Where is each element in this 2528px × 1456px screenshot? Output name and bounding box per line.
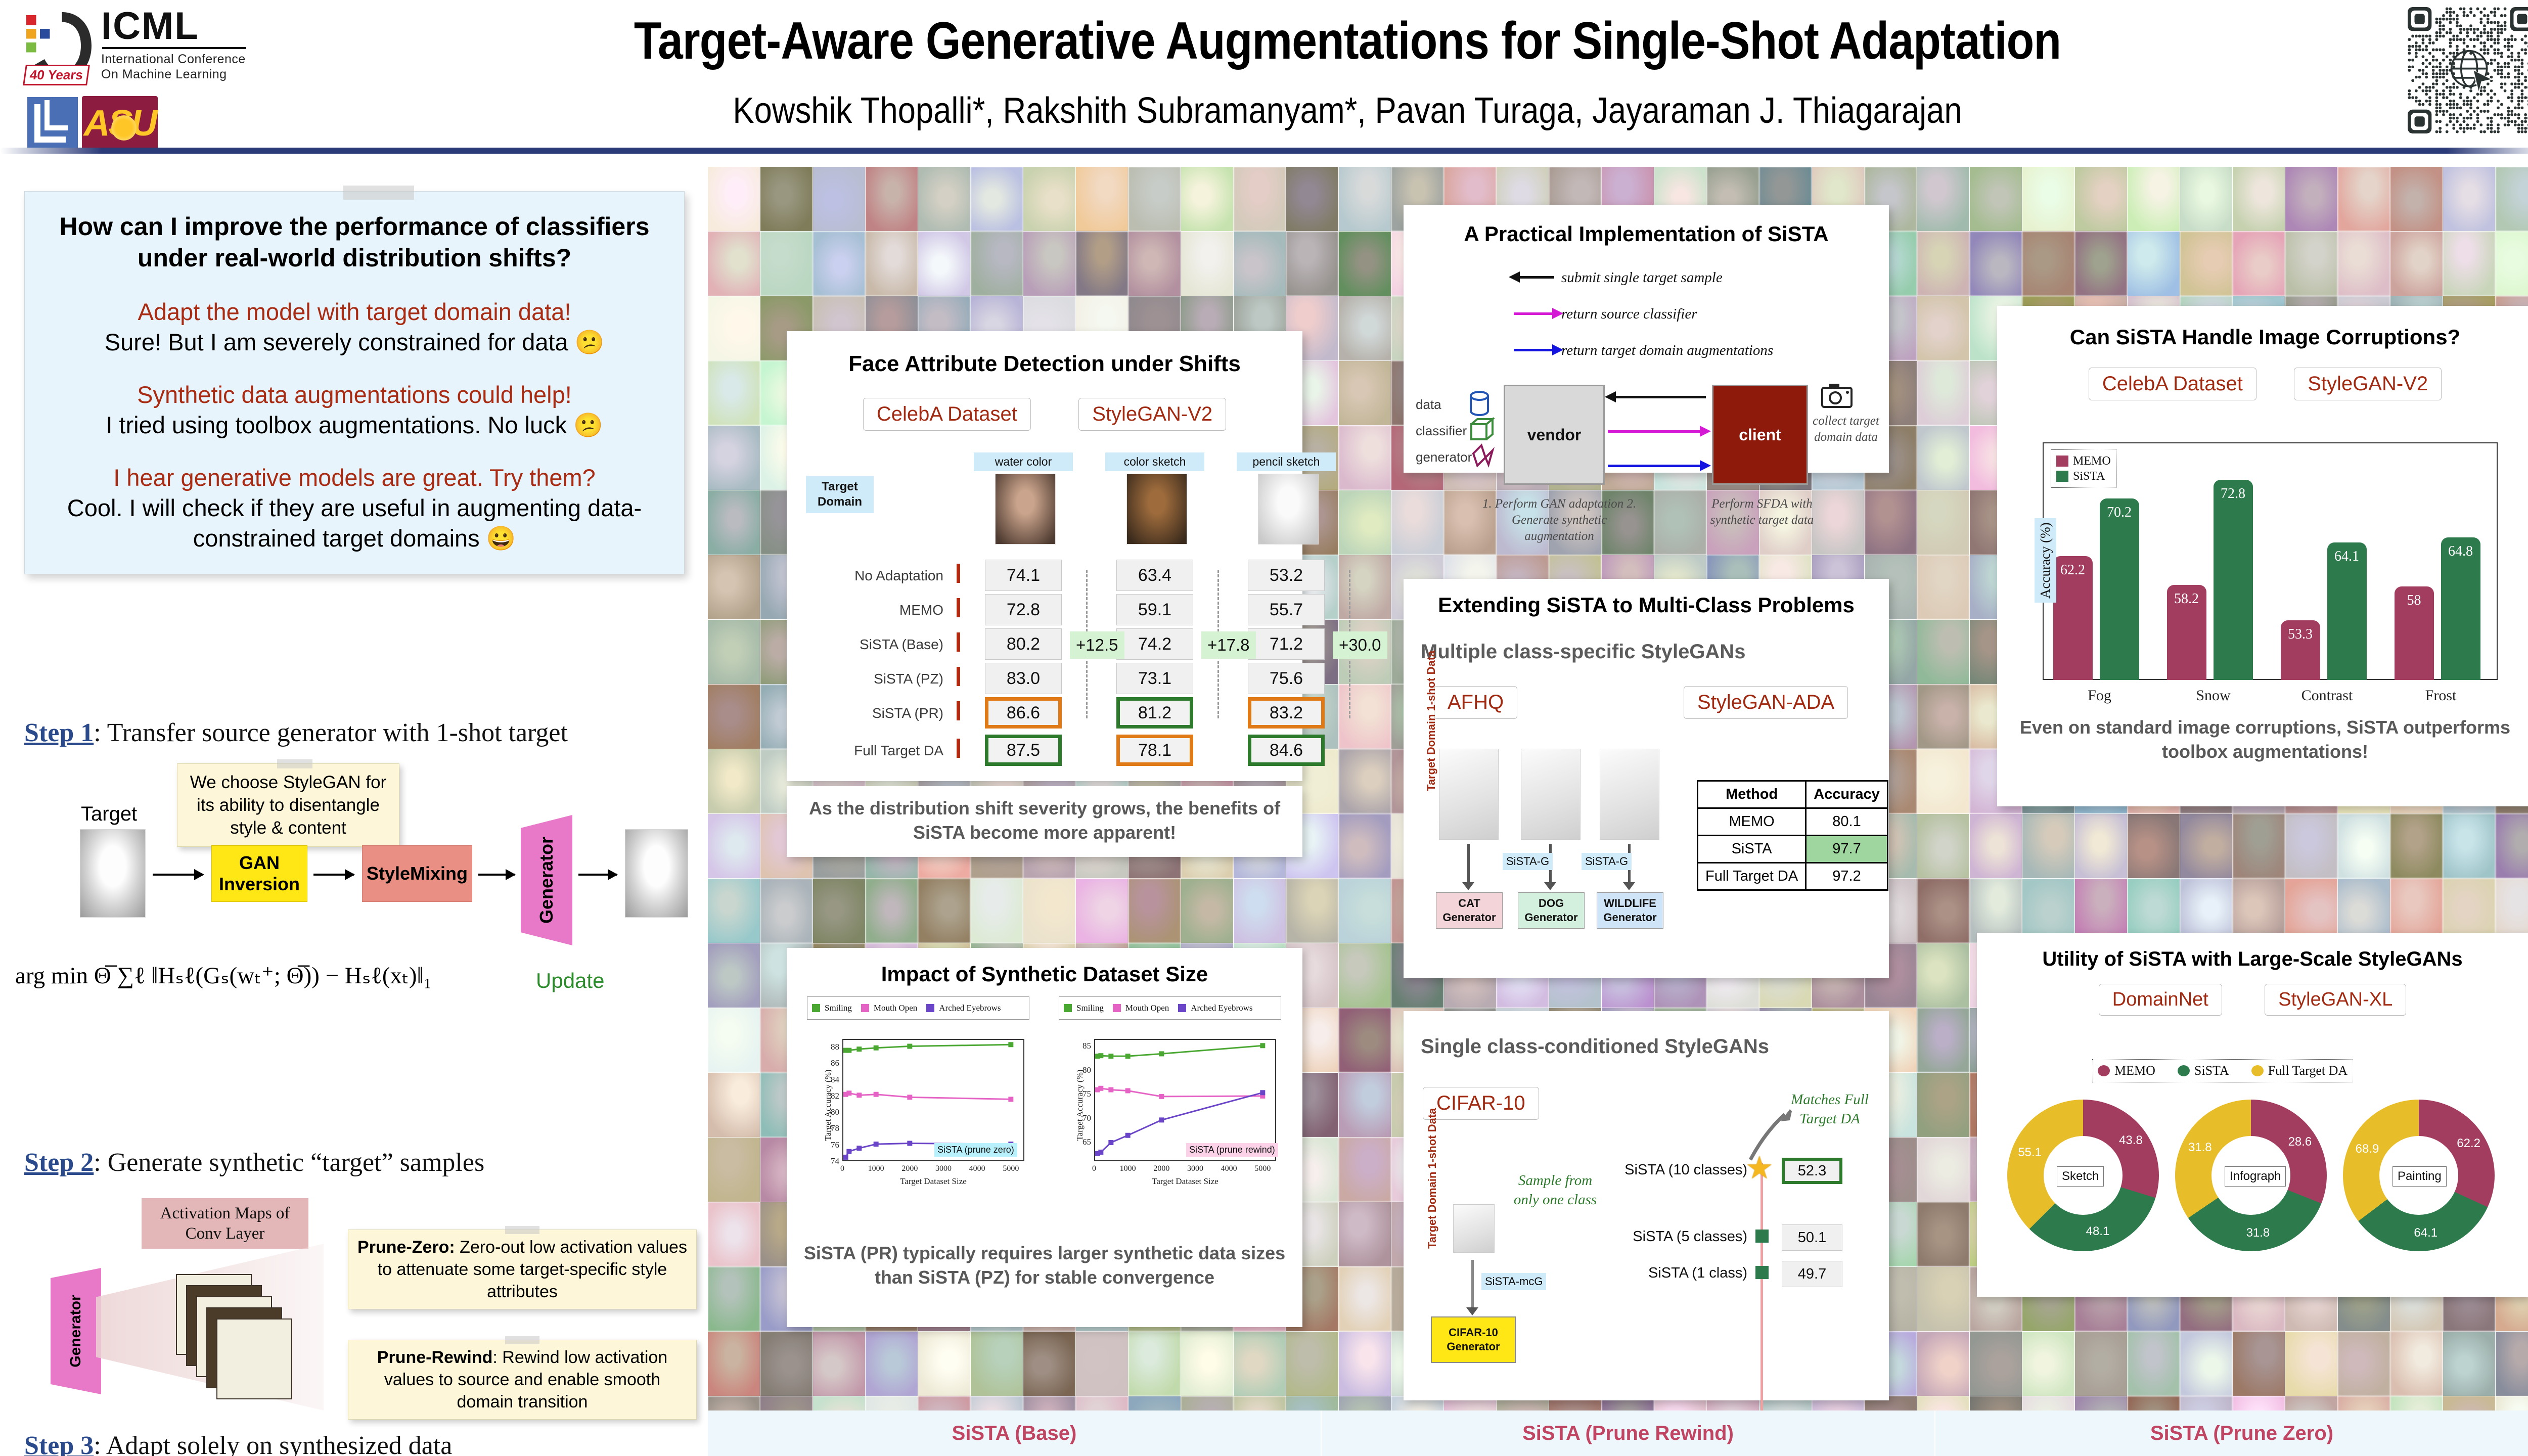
donut-value-infograph-1: 31.8 bbox=[2246, 1226, 2270, 1240]
qr-code[interactable] bbox=[2408, 7, 2528, 133]
generator-chip-2: WILDLIFEGenerator bbox=[1597, 892, 1663, 929]
donut-center-label-0: Sketch bbox=[2057, 1166, 2104, 1187]
mosaic-tile bbox=[1917, 1396, 1969, 1410]
impl-panel-title: A Practical Implementation of SiSTA bbox=[1404, 222, 1889, 246]
mosaic-tile bbox=[2128, 167, 2180, 231]
mosaic-tile bbox=[2285, 232, 2337, 296]
y-axis-label-0: Target Accuracy (%) bbox=[823, 1055, 833, 1156]
target-domain-chip: Target Domain bbox=[806, 476, 874, 513]
row-label-3: SiSTA (PZ) bbox=[792, 671, 943, 687]
step1-label: Step 1 bbox=[24, 718, 94, 747]
mosaic-tile bbox=[760, 1396, 812, 1410]
mosaic-tile bbox=[2128, 1332, 2180, 1396]
mosaic-tile bbox=[1917, 1202, 1969, 1266]
x-axis-label-0: Target Dataset Size bbox=[842, 1176, 1024, 1187]
mosaic-tile bbox=[760, 232, 812, 296]
value-cell-r5-c0: 87.5 bbox=[985, 735, 1062, 766]
mosaic-tile bbox=[1339, 490, 1391, 555]
step3-heading: Step 3: Adapt solely on synthesized data bbox=[24, 1431, 452, 1456]
x-tick-frost: Frost bbox=[2384, 687, 2498, 704]
row-marker-2 bbox=[957, 632, 960, 652]
dialog-line-2: Sure! But I am severely constrained for … bbox=[40, 327, 669, 357]
database-icon bbox=[1468, 391, 1491, 419]
mosaic-tile bbox=[971, 879, 1023, 943]
mosaic-tile bbox=[2233, 1332, 2285, 1396]
mosaic-tile bbox=[971, 232, 1023, 296]
mosaic-tile bbox=[1023, 879, 1075, 943]
llnl-logo bbox=[27, 97, 78, 150]
mosaic-tile bbox=[1181, 1396, 1233, 1410]
side-label-2: generator bbox=[1416, 449, 1472, 465]
mosaic-tile bbox=[1339, 1396, 1391, 1410]
step1-diagram: Target We choose StyleGAN for its abilit… bbox=[20, 758, 698, 971]
line-legend-swatch-0-2 bbox=[926, 1004, 934, 1012]
corruption-chip-dataset: CelebA Dataset bbox=[2089, 368, 2256, 400]
bar-value-frost-sista: 64.8 bbox=[2441, 543, 2480, 560]
gan-inversion-label: GAN Inversion bbox=[212, 852, 307, 895]
y-axis-label: Accuracy (%) bbox=[2035, 518, 2056, 603]
line-legend-label-0-2: Arched Eyebrows bbox=[939, 1000, 1001, 1016]
cifar-row-label-1: SiSTA (5 classes) bbox=[1596, 1228, 1747, 1245]
line-legend-item-1-2: Arched Eyebrows bbox=[1178, 1000, 1252, 1016]
bar-value-contrast-memo: 53.3 bbox=[2281, 626, 2320, 643]
mosaic-tile bbox=[813, 879, 865, 943]
table-header-0: Method bbox=[1698, 781, 1806, 808]
mosaic-tile bbox=[1917, 1008, 1969, 1072]
x-tick-1-0: 0 bbox=[1078, 1164, 1110, 1173]
mosaic-tile bbox=[1339, 1332, 1391, 1396]
target-domain-thumb-2 bbox=[1258, 474, 1319, 544]
mosaic-tile bbox=[2180, 814, 2232, 878]
bar-frost-memo: 58 bbox=[2395, 586, 2434, 680]
client-box: client bbox=[1712, 385, 1808, 485]
mosaic-tile bbox=[2233, 232, 2285, 296]
bar-snow-memo: 58.2 bbox=[2167, 585, 2206, 680]
x-tick-1-1000: 1000 bbox=[1112, 1164, 1144, 1173]
camera-icon bbox=[1821, 383, 1853, 411]
value-cell-r1-c2: 55.7 bbox=[1248, 594, 1325, 625]
mosaic-tile bbox=[2338, 814, 2390, 878]
row-marker-5 bbox=[957, 739, 960, 758]
mosaic-tile bbox=[1234, 167, 1286, 231]
donut-panel-title: Utility of SiSTA with Large-Scale StyleG… bbox=[1977, 948, 2528, 971]
donut-value-painting-1: 64.1 bbox=[2414, 1226, 2437, 1240]
mosaic-tile bbox=[1128, 232, 1181, 296]
mosaic-tile bbox=[1917, 879, 1969, 943]
mosaic-tile bbox=[1917, 232, 1969, 296]
line-legend-item-0-0: Smiling bbox=[812, 1000, 852, 1016]
square-marker-2 bbox=[1755, 1266, 1769, 1279]
mosaic-tile bbox=[708, 490, 760, 555]
mosaic-tile bbox=[2022, 1396, 2074, 1410]
mosaic-tile bbox=[708, 1202, 760, 1266]
animal-sketch-2 bbox=[1600, 749, 1659, 840]
line-legend-item-1-1: Mouth Open bbox=[1113, 1000, 1169, 1016]
line-legend-swatch-1-0 bbox=[1064, 1004, 1072, 1012]
star-marker: ★ bbox=[1745, 1153, 1774, 1184]
mosaic-tile bbox=[2338, 167, 2390, 231]
face-panel-title: Face Attribute Detection under Shifts bbox=[787, 351, 1302, 377]
prune-zero-note: Prune-Zero: Zero-out low activation valu… bbox=[348, 1230, 697, 1309]
table-row: MEMO80.1 bbox=[1698, 808, 1888, 836]
mosaic-tile bbox=[1917, 490, 1969, 555]
mosaic-tile bbox=[1339, 1137, 1391, 1202]
row-marker-4 bbox=[957, 701, 960, 720]
donut-legend-label-2: Full Target DA bbox=[2268, 1063, 2348, 1078]
line-legend-swatch-0-1 bbox=[861, 1004, 869, 1012]
donut-legend-item-2: Full Target DA bbox=[2251, 1063, 2348, 1078]
classifier-cube-icon bbox=[1468, 417, 1495, 445]
sample-note: Sample from only one class bbox=[1505, 1171, 1606, 1209]
x-tick-0-5000: 5000 bbox=[995, 1164, 1027, 1173]
legend-item-memo: MEMO bbox=[2056, 453, 2111, 469]
x-tick-contrast: Contrast bbox=[2270, 687, 2384, 704]
donut-value-sketch-0: 43.8 bbox=[2119, 1133, 2143, 1148]
sista-g-tag-0: SiSTA-G bbox=[1503, 853, 1553, 870]
mosaic-tile bbox=[708, 1073, 760, 1137]
mosaic-tile bbox=[2443, 814, 2495, 878]
matches-note: Matches Full Target DA bbox=[1782, 1090, 1878, 1128]
donut-legend-item-0: MEMO bbox=[2098, 1063, 2155, 1078]
x-tick-0-2000: 2000 bbox=[893, 1164, 926, 1173]
mosaic-tile bbox=[1970, 1332, 2022, 1396]
cifar-value-0: 52.3 bbox=[1782, 1158, 1842, 1184]
author-list: Kowshik Thopalli*, Rakshith Subramanyam*… bbox=[469, 90, 2226, 131]
mosaic-tile bbox=[971, 1332, 1023, 1396]
line-legend-swatch-1-2 bbox=[1178, 1004, 1186, 1012]
corruption-panel: Can SiSTA Handle Image Corruptions? Cele… bbox=[1997, 306, 2528, 806]
mosaic-tile bbox=[1286, 1332, 1338, 1396]
mosaic-tile bbox=[918, 232, 970, 296]
x-tick-fog: Fog bbox=[2043, 687, 2156, 704]
mosaic-tile bbox=[1917, 1137, 1969, 1202]
table-row: Full Target DA97.2 bbox=[1698, 863, 1888, 890]
donut-chip-model: StyleGAN-XL bbox=[2265, 984, 2406, 1016]
prune-zero-tape bbox=[505, 1226, 539, 1234]
mosaic-tile bbox=[708, 1332, 760, 1396]
asu-sunburst-icon bbox=[109, 113, 139, 143]
prune-rewind-note: Prune-Rewind: Rewind low activation valu… bbox=[348, 1340, 697, 1420]
mosaic-tile bbox=[2180, 167, 2232, 231]
vendor-box: vendor bbox=[1504, 385, 1605, 485]
table-row: SiSTA97.7 bbox=[1698, 836, 1888, 863]
table-header-1: Accuracy bbox=[1806, 781, 1888, 808]
mosaic-tile bbox=[1339, 426, 1391, 490]
legend-swatch-1 bbox=[2056, 471, 2068, 482]
mosaic-tile bbox=[1023, 232, 1075, 296]
arrow-gen-to-output bbox=[578, 874, 617, 876]
y-tick-0-88: 88 bbox=[819, 1042, 839, 1052]
column-chip-1: color sketch bbox=[1105, 452, 1204, 471]
x-tick-0-4000: 4000 bbox=[961, 1164, 994, 1173]
mosaic-tile bbox=[1339, 555, 1391, 619]
table-cell-r1-c1: 97.7 bbox=[1806, 836, 1888, 863]
generator-label: Generator bbox=[536, 837, 557, 924]
cifar-side-label: Target Domain 1-shot Data bbox=[1426, 1158, 1439, 1249]
mosaic-tile bbox=[1339, 167, 1391, 231]
mosaic-tile bbox=[2338, 1332, 2390, 1396]
mosaic-tile bbox=[1286, 879, 1338, 943]
arrow-mix-to-gen bbox=[478, 874, 515, 876]
multiclass-subtitle: Multiple class-specific StyleGANs bbox=[1421, 641, 1745, 663]
donut-legend: MEMOSiSTAFull Target DA bbox=[2092, 1059, 2353, 1082]
mosaic-tile bbox=[2180, 1396, 2232, 1410]
legend-swatch-0 bbox=[2056, 456, 2068, 467]
mosaic-tile bbox=[1076, 167, 1128, 231]
mosaic-tile bbox=[1339, 361, 1391, 425]
step3-label: Step 3 bbox=[24, 1431, 94, 1456]
mosaic-tile bbox=[1076, 1396, 1128, 1410]
line-legend-1: SmilingMouth OpenArched Eyebrows bbox=[1059, 996, 1281, 1020]
bar-value-fog-sista: 70.2 bbox=[2100, 505, 2139, 521]
target-domain-thumb-0 bbox=[995, 474, 1056, 544]
row-marker-1 bbox=[957, 598, 960, 617]
mosaic-tile bbox=[1181, 1332, 1233, 1396]
donut-center-label-1: Infograph bbox=[2225, 1166, 2286, 1187]
legend-text-2: return target domain augmentations bbox=[1561, 342, 1773, 359]
mosaic-tile bbox=[2285, 1396, 2337, 1410]
mosaic-tile bbox=[2285, 1332, 2337, 1396]
table-cell-r0-c0: MEMO bbox=[1698, 808, 1806, 836]
mosaic-tile bbox=[1339, 749, 1391, 813]
mosaic-tile bbox=[1076, 879, 1128, 943]
mosaic-tile bbox=[1339, 296, 1391, 360]
cifar-generator-name: CIFAR-10 bbox=[1449, 1326, 1498, 1340]
donut-legend-item-1: SiSTA bbox=[2178, 1063, 2229, 1078]
animal-sketch-1 bbox=[1521, 749, 1581, 840]
mosaic-tile bbox=[760, 167, 812, 231]
mosaic-tile bbox=[1917, 685, 1969, 749]
step1-text: : Transfer source generator with 1-shot … bbox=[94, 718, 568, 747]
client-note: collect target domain data bbox=[1808, 413, 1884, 445]
mosaic-tile bbox=[708, 167, 760, 231]
mosaic-tile bbox=[1339, 1073, 1391, 1137]
mosaic-tile bbox=[708, 232, 760, 296]
update-label: Update bbox=[536, 969, 604, 993]
mosaic-tile bbox=[2443, 1396, 2495, 1410]
mosaic-tile bbox=[2496, 1396, 2528, 1410]
mosaic-tile bbox=[2022, 232, 2074, 296]
line-legend-label-1-2: Arched Eyebrows bbox=[1191, 1000, 1252, 1016]
step2-label: Step 2 bbox=[24, 1148, 94, 1177]
x-tick-1-4000: 4000 bbox=[1213, 1164, 1245, 1173]
row-label-0: No Adaptation bbox=[792, 568, 943, 584]
bar-value-snow-memo: 58.2 bbox=[2167, 591, 2206, 607]
mosaic-tile bbox=[760, 1332, 812, 1396]
dialog-line-1: Adapt the model with target domain data! bbox=[40, 297, 669, 327]
generator-chip-1: DOGGenerator bbox=[1518, 892, 1585, 929]
dialog-line-4: I tried using toolbox augmentations. No … bbox=[40, 410, 669, 440]
mosaic-tile bbox=[708, 879, 760, 943]
corruption-chip-model: StyleGAN-V2 bbox=[2294, 368, 2442, 400]
mosaic-tile bbox=[2075, 167, 2127, 231]
mosaic-tile bbox=[1076, 232, 1128, 296]
x-tick-1-2000: 2000 bbox=[1145, 1164, 1178, 1173]
cifar-arrow-to-generator bbox=[1471, 1260, 1474, 1308]
activation-maps-label: Activation Maps of Conv Layer bbox=[142, 1198, 308, 1249]
stylegan-callout: We choose StyleGAN for its ability to di… bbox=[177, 763, 399, 847]
value-cell-r2-c1: 74.2 bbox=[1116, 628, 1193, 660]
line-legend-item-0-1: Mouth Open bbox=[861, 1000, 917, 1016]
mosaic-tile bbox=[2022, 1332, 2074, 1396]
mosaic-tile bbox=[866, 167, 918, 231]
bottom-caption-prune-zero: SiSTA (Prune Zero) bbox=[1935, 1410, 2528, 1456]
value-cell-r4-c2: 83.2 bbox=[1248, 697, 1325, 729]
mosaic-tile bbox=[708, 296, 760, 360]
donut-panel: Utility of SiSTA with Large-Scale StyleG… bbox=[1977, 933, 2528, 1297]
donut-value-sketch-2: 55.1 bbox=[2018, 1146, 2042, 1160]
value-cell-r0-c0: 74.1 bbox=[985, 560, 1062, 591]
stylemixing-block: StyleMixing bbox=[362, 845, 472, 902]
face-chip-model: StyleGAN-V2 bbox=[1078, 398, 1226, 431]
mosaic-tile bbox=[2128, 1396, 2180, 1410]
value-cell-r5-c1: 78.1 bbox=[1116, 735, 1193, 766]
header-divider bbox=[0, 148, 2528, 154]
mosaic-tile bbox=[813, 232, 865, 296]
size-caption: SiSTA (PR) typically requires larger syn… bbox=[802, 1241, 1287, 1290]
donut-value-painting-2: 68.9 bbox=[2356, 1142, 2379, 1156]
sista-g-tag-1: SiSTA-G bbox=[1582, 853, 1632, 870]
university-logos: ASU bbox=[22, 96, 245, 152]
value-cell-r3-c1: 73.1 bbox=[1116, 663, 1193, 694]
face-chip-dataset: CelebA Dataset bbox=[863, 398, 1031, 431]
mosaic-tile bbox=[813, 1332, 865, 1396]
x-tick-0-1000: 1000 bbox=[860, 1164, 892, 1173]
table-header-row: MethodAccuracy bbox=[1698, 781, 1888, 808]
motivation-sticky-note: How can I improve the performance of cla… bbox=[24, 191, 685, 574]
step2-text: : Generate synthetic “target” samples bbox=[94, 1148, 484, 1177]
legend-arrow-1 bbox=[1514, 312, 1554, 315]
icml-sub-line2: On Machine Learning bbox=[101, 67, 246, 82]
multiclass-panel-title: Extending SiSTA to Multi-Class Problems bbox=[1404, 593, 1889, 617]
mosaic-tile bbox=[866, 232, 918, 296]
gain-badge-0: +12.5 bbox=[1070, 631, 1124, 659]
step1-target-label: Target bbox=[81, 803, 137, 826]
mosaic-tile bbox=[971, 167, 1023, 231]
step2-diagram: Activation Maps of Conv Layer Generator … bbox=[20, 1193, 703, 1446]
mosaic-tile bbox=[2496, 814, 2528, 878]
vendor-note: 1. Perform GAN adaptation 2. Generate sy… bbox=[1478, 496, 1640, 544]
x-tick-snow: Snow bbox=[2156, 687, 2270, 704]
bottom-caption-strip: SiSTA (Base) SiSTA (Prune Rewind) SiSTA … bbox=[708, 1410, 2528, 1456]
prune-rewind-title: Prune-Rewind bbox=[377, 1348, 493, 1367]
multiclass-table: MethodAccuracyMEMO80.1SiSTA97.7Full Targ… bbox=[1697, 780, 1888, 891]
mosaic-tile bbox=[1339, 879, 1391, 943]
table-cell-r1-c0: SiSTA bbox=[1698, 836, 1806, 863]
donut-value-infograph-0: 28.6 bbox=[2288, 1135, 2312, 1149]
table-cell-r2-c0: Full Target DA bbox=[1698, 863, 1806, 890]
mosaic-tile bbox=[1917, 943, 1969, 1008]
mosaic-tile bbox=[1970, 814, 2022, 878]
prune-rewind-tape bbox=[505, 1336, 539, 1344]
mosaic-tile bbox=[2180, 1332, 2232, 1396]
mosaic-tile bbox=[1917, 814, 1969, 878]
mosaic-tile bbox=[2496, 167, 2528, 231]
row-marker-0 bbox=[957, 564, 960, 583]
donut-legend-label-0: MEMO bbox=[2114, 1063, 2155, 1078]
mosaic-tile bbox=[1917, 167, 1969, 231]
mosaic-tile bbox=[708, 1267, 760, 1331]
donut-value-infograph-2: 31.8 bbox=[2188, 1141, 2212, 1155]
mosaic-tile bbox=[708, 814, 760, 878]
cifar-subtitle: Single class-conditioned StyleGANs bbox=[1421, 1035, 1769, 1058]
x-tick-0-0: 0 bbox=[826, 1164, 859, 1173]
arrow-gan-to-mix bbox=[313, 874, 354, 876]
value-cell-r1-c0: 72.8 bbox=[985, 594, 1062, 625]
mosaic-tile bbox=[2390, 167, 2443, 231]
motivation-dialog: Adapt the model with target domain data!… bbox=[40, 297, 669, 554]
mosaic-tile bbox=[1023, 1396, 1075, 1410]
line-chart-1: SmilingMouth OpenArched Eyebrows65707580… bbox=[1059, 996, 1281, 1199]
mosaic-tile bbox=[708, 426, 760, 490]
mosaic-tile bbox=[2075, 814, 2127, 878]
x-tick-1-5000: 5000 bbox=[1246, 1164, 1279, 1173]
row-label-4: SiSTA (PR) bbox=[792, 705, 943, 721]
mosaic-tile bbox=[918, 1396, 970, 1410]
mosaic-tile bbox=[708, 1137, 760, 1202]
prune-zero-title: Prune-Zero: bbox=[357, 1238, 455, 1257]
table-cell-r0-c1: 80.1 bbox=[1806, 808, 1888, 836]
poster-header: ICML International Conference On Machine… bbox=[0, 0, 2528, 157]
bar-value-contrast-sista: 64.1 bbox=[2327, 549, 2367, 565]
mosaic-tile bbox=[2443, 232, 2495, 296]
side-label-1: classifier bbox=[1416, 423, 1467, 439]
generator-chip-name-0: CAT bbox=[1458, 896, 1480, 911]
cifar-chip-dataset: CIFAR-10 bbox=[1423, 1087, 1539, 1120]
x-tick-0-3000: 3000 bbox=[927, 1164, 960, 1173]
mosaic-tile bbox=[1181, 167, 1233, 231]
line-legend-item-0-2: Arched Eyebrows bbox=[926, 1000, 1001, 1016]
mosaic-tile bbox=[1181, 879, 1233, 943]
mosaic-tile bbox=[1286, 167, 1338, 231]
mosaic-tile bbox=[1970, 1396, 2022, 1410]
mosaic-tile bbox=[2496, 1332, 2528, 1396]
mosaic-tile bbox=[2390, 814, 2443, 878]
step2-heading: Step 2: Generate synthetic “target” samp… bbox=[24, 1148, 484, 1177]
mosaic-tile bbox=[2022, 814, 2074, 878]
icml-acronym: ICML bbox=[101, 8, 246, 45]
row-label-2: SiSTA (Base) bbox=[792, 636, 943, 653]
cifar-trend-line bbox=[1760, 1163, 1763, 1440]
bar-value-frost-memo: 58 bbox=[2395, 593, 2434, 609]
mosaic-tile bbox=[1234, 879, 1286, 943]
row-label-5: Full Target DA bbox=[792, 743, 943, 759]
mosaic-tile bbox=[1339, 943, 1391, 1008]
qr-code-canvas[interactable] bbox=[2408, 7, 2528, 133]
face-caption-panel: As the distribution shift severity grows… bbox=[787, 786, 1302, 857]
mosaic-tile bbox=[2075, 1332, 2127, 1396]
mosaic-tile bbox=[1865, 490, 1917, 555]
chart-tag-0: SiSTA (prune zero) bbox=[934, 1143, 1017, 1157]
mosaic-tile bbox=[1339, 1008, 1391, 1072]
llnl-glyph-2 bbox=[44, 100, 68, 130]
dialog-line-3: Synthetic data augmentations could help! bbox=[40, 380, 669, 410]
mosaic-tile bbox=[1339, 232, 1391, 296]
step3-text: : Adapt solely on synthesized data bbox=[94, 1431, 452, 1456]
mosaic-tile bbox=[1917, 296, 1969, 360]
cifar-row-label-2: SiSTA (1 class) bbox=[1596, 1265, 1747, 1282]
line-chart-0: SmilingMouth OpenArched Eyebrows74767880… bbox=[807, 996, 1029, 1199]
mosaic-tile bbox=[1970, 232, 2022, 296]
mosaic-tile bbox=[1339, 814, 1391, 878]
value-cell-r2-c2: 71.2 bbox=[1248, 628, 1325, 660]
line-legend-swatch-1-1 bbox=[1113, 1004, 1121, 1012]
value-cell-r5-c2: 84.6 bbox=[1248, 735, 1325, 766]
mosaic-tile bbox=[708, 943, 760, 1008]
feature-map-card-5 bbox=[216, 1318, 292, 1399]
donut-center-label-2: Painting bbox=[2392, 1166, 2447, 1187]
step1-target-image bbox=[80, 829, 146, 918]
